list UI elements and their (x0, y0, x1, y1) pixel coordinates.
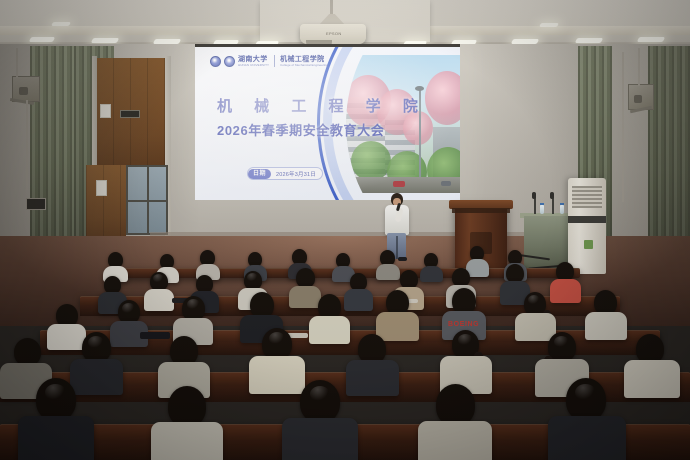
torso (624, 360, 680, 398)
hair-highlight (310, 386, 330, 402)
water-bottle (540, 205, 544, 214)
head (296, 268, 315, 288)
torso (309, 316, 350, 344)
torso (18, 416, 94, 460)
head (566, 378, 606, 421)
ceiling-light (29, 37, 55, 42)
torso (376, 264, 400, 280)
projector-mount-rod (330, 0, 333, 16)
head (168, 386, 206, 427)
logo-divider (274, 55, 275, 67)
hair-highlight (247, 273, 258, 282)
lecture-hall-photo: EPSON (0, 0, 690, 460)
college-name-cn: 机械工程学院 (280, 56, 324, 63)
hair-highlight (45, 384, 66, 401)
podium-shelf (452, 208, 510, 213)
hair-highlight (269, 332, 285, 345)
ceiling-light (637, 37, 665, 42)
slide-title: 机 械 工 程 学 院 (217, 95, 427, 116)
torso (70, 359, 123, 395)
college-name-en: College of Mechanical Engineering (280, 64, 328, 67)
torso (515, 313, 556, 341)
ac-badge (584, 240, 593, 249)
hair-highlight (122, 303, 135, 314)
microphone-head (550, 192, 554, 199)
hair-highlight (153, 274, 164, 283)
torso (249, 356, 305, 394)
ceiling-light (539, 23, 559, 27)
college-name: 机械工程学院 College of Mechanical Engineering (280, 56, 328, 67)
university-name-cn: 湖南大学 (238, 56, 268, 63)
torso (144, 289, 174, 311)
torso (376, 312, 419, 341)
slide-logo-row: 湖南大学 HUNAN UNIVERSITY 机械工程学院 College of … (210, 55, 328, 67)
torso (47, 324, 86, 350)
head (436, 384, 475, 426)
water-bottle (560, 205, 564, 214)
date-value: 2026年3月31日 (276, 170, 316, 178)
ceiling-light (91, 38, 119, 43)
university-name: 湖南大学 HUNAN UNIVERSITY (238, 56, 269, 67)
university-seal-icon (224, 56, 235, 67)
date-label: 日期 (248, 169, 271, 179)
ceiling-light (575, 38, 603, 43)
ac-display-band (568, 216, 606, 223)
hair-highlight (575, 384, 596, 401)
torso (346, 360, 399, 396)
shirt-text: BOEING (448, 321, 479, 328)
head (300, 380, 340, 423)
torso (282, 418, 358, 460)
university-name-en: HUNAN UNIVERSITY (238, 64, 269, 67)
ceiling-light (51, 22, 71, 26)
projection-screen: 湖南大学 HUNAN UNIVERSITY 机械工程学院 College of … (195, 47, 460, 200)
bottle-cap (560, 203, 564, 205)
slide-date-chip: 日期 2026年3月31日 (247, 167, 323, 180)
university-crest-icon (210, 56, 221, 67)
presenter-shoe (398, 257, 407, 261)
torso (585, 312, 627, 340)
presenter-leg-gap (396, 236, 398, 259)
torso (420, 266, 443, 282)
microphone-head (532, 192, 536, 199)
projector-brand-label: EPSON (326, 31, 342, 36)
hair-highlight (528, 295, 540, 305)
hair-highlight (88, 336, 104, 349)
desk-phone (140, 332, 170, 339)
torso (548, 416, 626, 460)
hair-highlight (187, 299, 200, 310)
head (36, 378, 76, 421)
wall-shadow-left (0, 44, 200, 240)
bottle-cap (540, 203, 544, 205)
hair-highlight (458, 334, 473, 346)
torso (550, 279, 581, 303)
slide-subtitle: 2026年春季期安全教育大会 (217, 120, 384, 139)
ac-vent (572, 186, 602, 208)
slide-content: 湖南大学 HUNAN UNIVERSITY 机械工程学院 College of … (195, 47, 460, 200)
torso (418, 421, 492, 460)
torso (344, 289, 373, 311)
torso (151, 422, 223, 460)
torso (289, 286, 321, 308)
head (14, 338, 41, 366)
hair-highlight (554, 336, 569, 348)
